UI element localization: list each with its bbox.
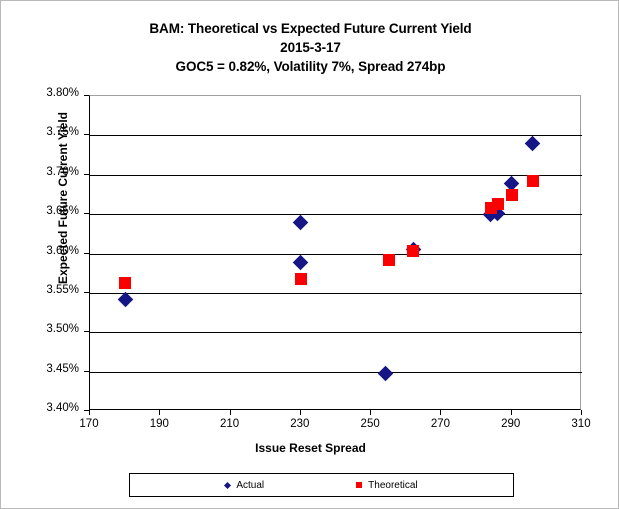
legend-item-theoretical: Theoretical — [356, 480, 417, 491]
x-axis-tick-mark — [581, 410, 582, 415]
x-axis-tick-mark — [511, 410, 512, 415]
chart-container: BAM: Theoretical vs Expected Future Curr… — [0, 0, 619, 509]
gridline — [90, 372, 582, 373]
data-point-actual — [525, 135, 541, 151]
diamond-marker-icon — [224, 481, 231, 488]
chart-title: BAM: Theoretical vs Expected Future Curr… — [1, 19, 619, 38]
data-point-theoretical — [383, 254, 395, 266]
data-point-theoretical — [527, 175, 539, 187]
x-axis-tick-label: 290 — [486, 418, 536, 430]
x-axis-tick-label: 250 — [345, 418, 395, 430]
square-marker-icon — [356, 482, 362, 488]
y-axis-tick-label: 3.80% — [19, 87, 79, 99]
x-axis-tick-label: 190 — [134, 418, 184, 430]
y-axis-tick-label: 3.65% — [19, 205, 79, 217]
gridline — [90, 175, 582, 176]
y-axis-tick-label: 3.60% — [19, 245, 79, 257]
data-point-theoretical — [295, 273, 307, 285]
x-axis-title: Issue Reset Spread — [1, 441, 619, 455]
x-axis-tick-mark — [159, 410, 160, 415]
chart-legend: Actual Theoretical — [129, 473, 514, 497]
y-axis-tick-label: 3.55% — [19, 284, 79, 296]
legend-label-theoretical: Theoretical — [368, 480, 417, 491]
chart-subtitle-parameters: GOC5 = 0.82%, Volatility 7%, Spread 274b… — [1, 57, 619, 76]
y-axis-tick-label: 3.75% — [19, 126, 79, 138]
gridline — [90, 254, 582, 255]
plot-area — [89, 95, 581, 410]
data-point-actual — [293, 214, 309, 230]
gridline — [90, 135, 582, 136]
x-axis-tick-mark — [300, 410, 301, 415]
gridline — [90, 214, 582, 215]
x-axis-tick-label: 170 — [64, 418, 114, 430]
x-axis-tick-mark — [440, 410, 441, 415]
x-axis-tick-mark — [370, 410, 371, 415]
x-axis-tick-mark — [89, 410, 90, 415]
gridline — [90, 332, 582, 333]
y-axis-tick-label: 3.70% — [19, 166, 79, 178]
data-point-actual — [377, 366, 393, 382]
x-axis-tick-mark — [230, 410, 231, 415]
chart-subtitle: 2015-3-17 — [1, 38, 619, 57]
x-axis-tick-label: 310 — [556, 418, 606, 430]
data-point-theoretical — [407, 245, 419, 257]
y-axis-tick-label: 3.45% — [19, 363, 79, 375]
x-axis-tick-label: 210 — [205, 418, 255, 430]
data-point-theoretical — [506, 189, 518, 201]
y-axis-tick-label: 3.40% — [19, 402, 79, 414]
y-axis-tick-label: 3.50% — [19, 323, 79, 335]
chart-title-block: BAM: Theoretical vs Expected Future Curr… — [1, 19, 619, 76]
data-point-theoretical — [119, 277, 131, 289]
data-point-theoretical — [492, 198, 504, 210]
legend-label-actual: Actual — [236, 480, 264, 491]
x-axis-tick-label: 270 — [415, 418, 465, 430]
x-axis-tick-label: 230 — [275, 418, 325, 430]
legend-item-actual: Actual — [225, 480, 264, 491]
gridline — [90, 293, 582, 294]
data-point-actual — [293, 254, 309, 270]
